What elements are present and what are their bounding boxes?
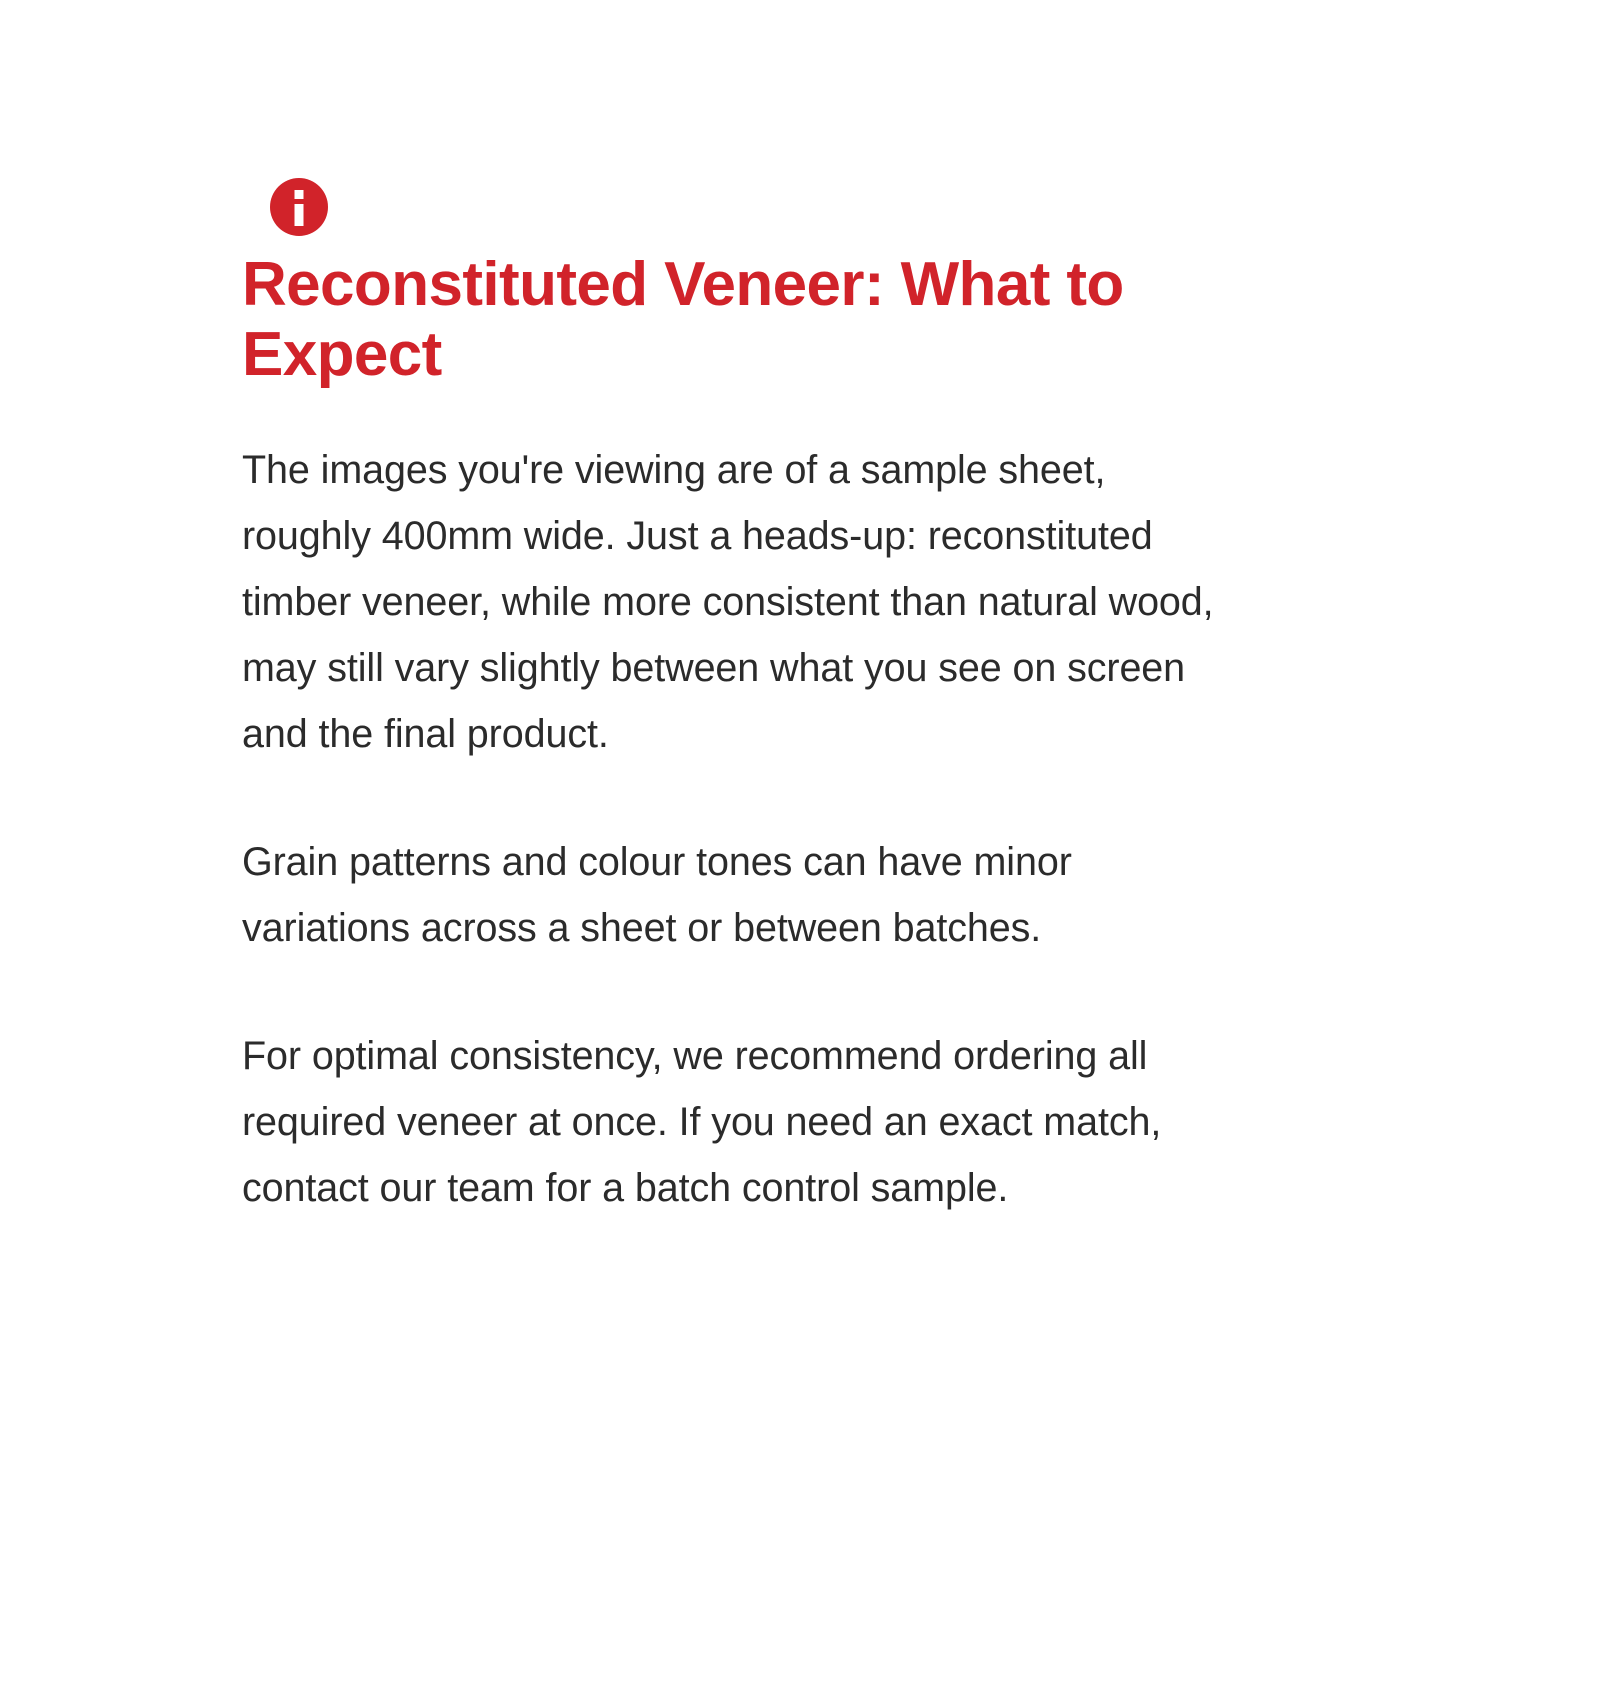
body-paragraph: For optimal consistency, we recommend or… [242, 1024, 1242, 1222]
page-title: Reconstituted Veneer: What to Expect [242, 240, 1242, 390]
info-icon-stem [295, 204, 304, 226]
info-icon-row [242, 0, 1252, 240]
info-icon [270, 178, 328, 236]
info-card-body: The images you're viewing are of a sampl… [242, 390, 1252, 1222]
body-paragraph: Grain patterns and colour tones can have… [242, 830, 1242, 962]
body-paragraph: The images you're viewing are of a sampl… [242, 438, 1242, 768]
info-card: Reconstituted Veneer: What to Expect The… [242, 0, 1252, 1222]
info-icon-dot [295, 190, 304, 199]
